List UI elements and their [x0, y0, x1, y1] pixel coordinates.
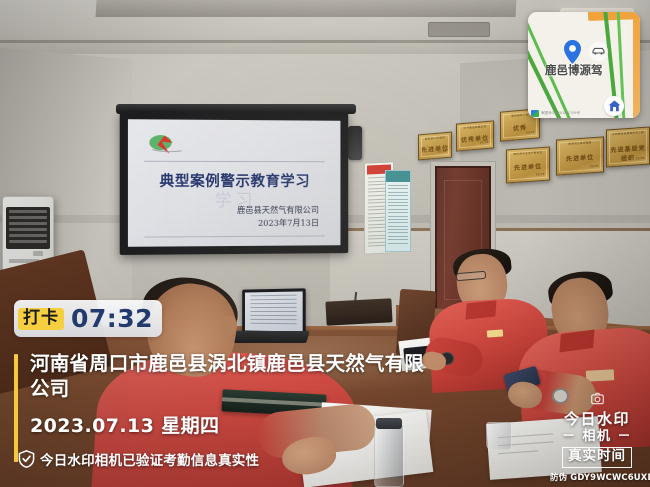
- laptop-base: [230, 331, 309, 343]
- wall-plaque: 鹿邑县人民政府 先进单位 2019年: [418, 132, 452, 161]
- wall-plaque: 鹿邑县应急管理局 先进单位 2022年: [556, 136, 604, 175]
- ceiling-beam: [96, 0, 517, 17]
- map-widget[interactable]: 鹿邑博源驾 审图号GS(2018)1709号: [528, 12, 640, 118]
- car-icon: [589, 42, 608, 61]
- slide-divider-bottom: [144, 235, 325, 237]
- brand-code-value: GDY9WCWC6UXDMX: [570, 472, 650, 482]
- plaque-caption: 鹿邑县应急管理局: [561, 141, 599, 148]
- wall-speaker: [348, 126, 362, 160]
- wall-plaque: 中共鹿邑县委员会 优秀单位 2020年: [456, 120, 494, 151]
- slide-title: 典型案例警示教育学习: [128, 170, 341, 191]
- presenter-laptop: [242, 288, 306, 335]
- watermark-address: 河南省周口市鹿邑县涡北镇鹿邑县天然气有限公司: [30, 352, 430, 401]
- brand-line-3: 真实时间: [562, 447, 632, 468]
- watermark-block: 河南省周口市鹿邑县涡北镇鹿邑县天然气有限公司 2023.07.13 星期四 今日…: [14, 352, 434, 469]
- slide-surface: 学习 典型案例警示教育学习 鹿邑县天然气有限公司 2023年7月13日: [128, 119, 341, 247]
- brand-anticounterfeit-code: 防伪 GDY9WCWC6UXDMX: [550, 471, 644, 483]
- punch-card-badge: 打卡 07:32: [14, 300, 162, 337]
- notice-header: [386, 171, 410, 182]
- plaque-caption: 鹿邑县安全生产委员会: [511, 151, 545, 157]
- map-attribution: 审图号GS(2018)1709号: [531, 109, 637, 117]
- amap-logo-icon: [531, 110, 539, 117]
- plaque-title: 先进基层党组织: [609, 143, 647, 164]
- plaque-footer: 2021年: [511, 172, 545, 179]
- plaque-caption: 鹿邑县人民政府: [423, 136, 447, 142]
- ceiling-vent: [428, 22, 490, 37]
- drinking-cup: [486, 422, 512, 450]
- map-pin-icon: [564, 40, 581, 64]
- camera-icon: [591, 392, 604, 405]
- watermark-verification-text: 今日水印相机已验证考勤信息真实性: [40, 449, 259, 469]
- punch-time: 07:32: [71, 306, 153, 331]
- plaque-footer: 2022年: [561, 164, 599, 172]
- plaque-title: 优秀单位: [459, 133, 491, 145]
- person-right-glasses-collar: [466, 300, 497, 319]
- watermark-accent-bar: [14, 354, 18, 462]
- brand-line-2: － 相机 －: [550, 429, 644, 446]
- watermark-verification: 今日水印相机已验证考勤信息真实性: [18, 449, 434, 469]
- company-logo-icon: [147, 133, 183, 155]
- plaque-footer: 2022年: [611, 156, 645, 163]
- wall-plaque: 鹿邑县安全生产委员会 先进单位 2021年: [506, 146, 550, 183]
- plaque-footer: 2021年: [505, 130, 535, 138]
- slide-subtitle: 鹿邑县天然气有限公司 2023年7月13日: [237, 204, 319, 230]
- punch-label: 打卡: [18, 308, 64, 330]
- brand-watermark: 今日水印 － 相机 － 真实时间 防伪 GDY9WCWC6UXDMX: [550, 392, 644, 483]
- plaque-title: 优秀: [503, 121, 537, 133]
- plaque-caption: 中共鹿邑县直属机关工委: [611, 131, 645, 137]
- notice-text-lines: [388, 185, 408, 246]
- ac-logo: [33, 251, 43, 256]
- ac-grille: [6, 207, 50, 249]
- plaque-title: 先进单位: [509, 161, 547, 173]
- plaque-footer: 2020年: [461, 140, 489, 147]
- laptop-screen: [245, 291, 303, 331]
- slide-company: 鹿邑县天然气有限公司: [237, 204, 319, 217]
- plaque-title: 先进单位: [421, 143, 449, 154]
- slide-date: 2023年7月13日: [237, 217, 319, 230]
- shield-check-icon: [18, 450, 35, 468]
- uniform-logo: [586, 369, 615, 381]
- brand-line-1: 今日水印: [550, 411, 644, 428]
- plaque-footer: 2019年: [423, 149, 447, 156]
- brand-code-label: 防伪: [550, 472, 567, 482]
- projector-screen: 学习 典型案例警示教育学习 鹿邑县天然气有限公司 2023年7月13日: [120, 111, 348, 255]
- wall-plaque: 中共鹿邑县直属机关工委 先进基层党组织 2022年: [606, 126, 650, 167]
- photo-canvas: 鹿邑县人民政府 先进单位 2019年 中共鹿邑县委员会 优秀单位 2020年 鹿…: [0, 0, 650, 487]
- wall-notice-board: [385, 170, 411, 252]
- plaque-title: 先进单位: [559, 152, 601, 164]
- slide-divider-top: [144, 161, 325, 162]
- document-stack: [325, 298, 392, 325]
- plaque-caption: 中共鹿邑县委员会: [461, 125, 489, 131]
- map-place-label: 鹿邑博源驾: [545, 62, 637, 78]
- car-glyph: [592, 47, 605, 56]
- map-attribution-text: 审图号GS(2018)1709号: [541, 111, 580, 116]
- uniform-badge: [487, 329, 503, 337]
- watermark-date: 2023.07.13 星期四: [30, 411, 434, 438]
